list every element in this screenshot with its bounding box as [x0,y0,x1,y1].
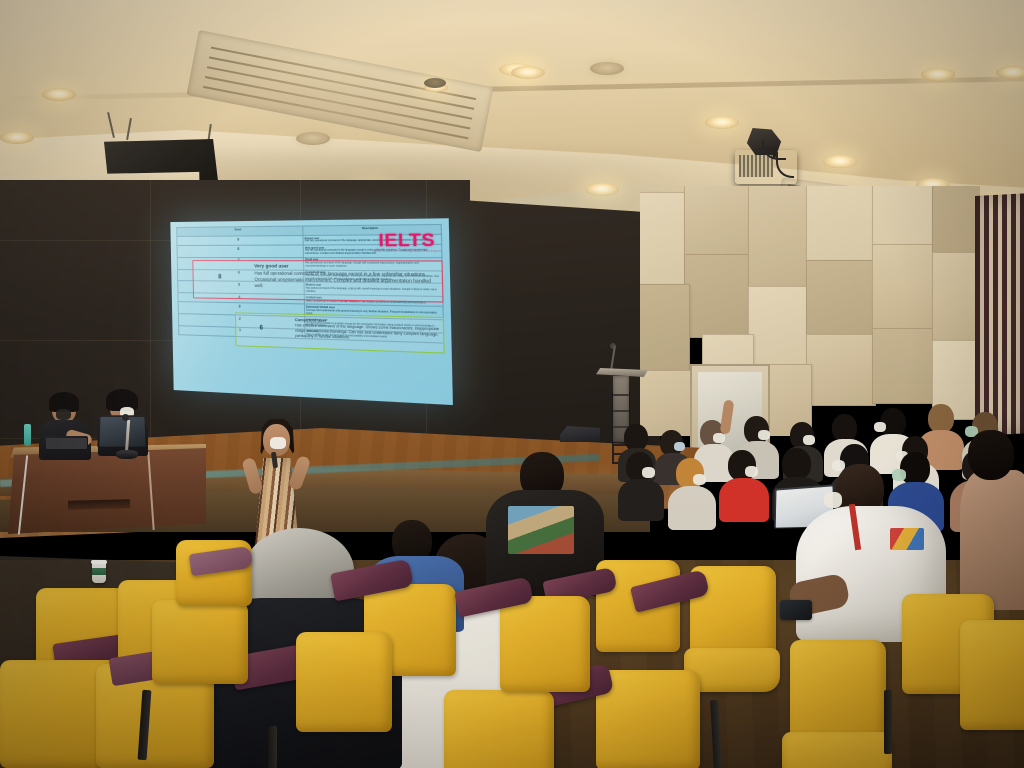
control-desk-panel-slot [68,499,130,510]
torso [618,479,664,521]
highlight-band6-title: Competent user [295,317,327,323]
highlight-band8-text: Very good user Has full operational comm… [254,263,438,291]
highlight-band8-number: 8 [218,274,221,280]
head [832,414,857,442]
face-mask [693,474,706,485]
water-bottle [24,424,31,446]
face-mask [642,467,655,478]
ceiling-downlight [511,66,545,79]
coffee-cup-lid [91,560,107,564]
laptop-screen [99,417,145,447]
seat-support-leg [884,690,892,754]
band-score: 9 [177,236,303,246]
seat-pan [782,732,892,768]
seat-back [444,690,554,768]
torso [668,486,716,530]
seat-support-leg [268,726,277,768]
ielts-logo: IELTS British Council IDP Cambridge Asse… [373,231,441,253]
desk-microphone-head [122,414,129,421]
control-desk [8,448,206,534]
ielts-logo-mark: IELTS [373,231,441,250]
band-title: Limited user [306,296,322,299]
wood-slat-wall [975,193,1024,436]
face-mask [892,469,906,481]
highlight-band6-text: Competent user Has effective command of … [295,317,440,344]
podium-rung [613,394,629,396]
highlight-band6-body: Has effective command of the language. S… [295,323,439,340]
head [900,452,930,485]
face-mask [758,430,770,440]
coffee-cup [92,562,106,583]
band-text: Basic competence is limited to familiar … [306,300,426,304]
band-score: 8 [177,245,303,257]
ceiling-cable-hook [424,78,446,88]
seat-back [500,596,590,692]
face-mask [803,435,815,445]
band-text: Conveys and understands only general mea… [306,309,437,314]
head [782,448,811,480]
face-mask [745,466,758,477]
presenter-face-mask [270,437,286,449]
desk-microphone-base [116,450,138,459]
ceiling-downlight [590,62,624,75]
torso [960,470,1024,610]
laptop-screen [46,438,87,449]
face-mask [713,433,725,443]
highlight-band8-body: Has full operational command of the lang… [254,270,431,288]
band-title: Good user [305,258,318,261]
torso [719,478,769,522]
ceiling-downlight [0,131,34,144]
shirt-logo [890,528,924,550]
ceiling-downlight [42,88,76,101]
face-mask [824,492,842,508]
staff-laptop[interactable] [44,436,88,450]
ceiling-downlight [996,66,1024,79]
highlight-band6-number: 6 [260,325,264,331]
head [968,430,1014,480]
ceiling-downlight [705,116,739,129]
seat-back [152,600,248,684]
head [624,424,648,451]
coffee-cup-band [92,568,106,575]
podium-rung [613,410,629,412]
band-title: Extremely limited user [306,305,335,309]
ceiling-downlight [921,68,955,81]
face-mask [874,422,886,432]
ceiling-downlight [823,155,857,168]
ceiling-downlight [296,132,330,145]
tshirt-graphic [508,506,574,554]
head [928,404,954,433]
attendee-phone[interactable] [780,600,812,620]
auditorium-scene: IELTS British Council IDP Cambridge Asse… [0,0,1024,768]
face-mask [56,409,71,420]
projection-screen: IELTS British Council IDP Cambridge Asse… [170,218,453,405]
face-mask [674,442,685,451]
staff-laptop[interactable] [97,415,146,447]
stage-monitor-speaker [560,426,600,442]
ielts-band-slide: IELTS British Council IDP Cambridge Asse… [170,218,453,405]
ielts-logo-tagline: British Council IDP Cambridge Assessment… [373,250,441,253]
seat-back shadow [296,632,392,732]
seat-back [960,620,1024,730]
highlight-band8-title: Very good user [254,263,288,268]
